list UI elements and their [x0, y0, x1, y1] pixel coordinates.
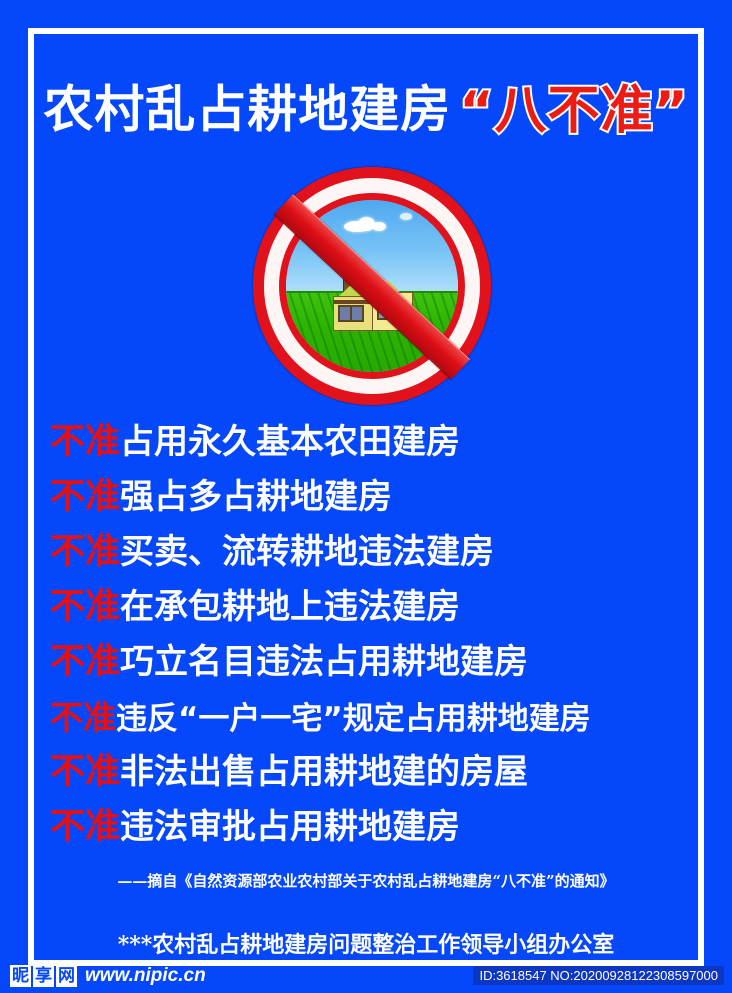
watermark-logo-char-2: 享 — [33, 965, 54, 987]
source-citation: ——摘自《自然资源部农业农村部关于农村乱占耕地建房“八不准”的通知》 — [0, 870, 732, 891]
rule-prefix: 不准 — [50, 422, 120, 462]
no-building-on-farmland-icon — [253, 167, 491, 405]
rule-item-7: 不准非法出售占用耕地建的房屋 — [50, 750, 690, 795]
rule-text: 强占多占耕地建房 — [120, 477, 392, 517]
rule-item-4: 不准在承包耕地上违法建房 — [50, 585, 690, 630]
rule-text: 非法出售占用耕地建的房屋 — [120, 752, 528, 792]
rule-text: 巧立名目违法占用耕地建房 — [120, 642, 528, 682]
watermark-logo-char-1: 昵 — [10, 965, 31, 987]
rule-item-6: 不准违反“一户一宅”规定占用耕地建房 — [50, 695, 690, 740]
poster-canvas: 农村乱占耕地建房“八不准” — [0, 0, 732, 993]
rule-prefix: 不准 — [50, 477, 120, 517]
rule-prefix: 不准 — [50, 642, 120, 682]
window-shape — [350, 305, 364, 322]
rule-text: 违反“一户一宅”规定占用耕地建房 — [116, 701, 591, 737]
watermark-logo: 昵 享 网 — [10, 965, 77, 987]
rule-prefix: 不准 — [50, 698, 116, 737]
cloud-icon — [372, 222, 386, 231]
rule-text: 买卖、流转耕地违法建房 — [120, 532, 494, 572]
rule-prefix: 不准 — [50, 532, 120, 572]
rule-item-8: 不准违法审批占用耕地建房 — [50, 805, 690, 850]
rule-item-1: 不准占用永久基本农田建房 — [50, 420, 690, 465]
rule-item-3: 不准买卖、流转耕地违法建房 — [50, 530, 690, 575]
watermark-logo-char-3: 网 — [56, 965, 77, 987]
rule-prefix: 不准 — [50, 587, 120, 627]
rule-text: 违法审批占用耕地建房 — [120, 807, 460, 847]
title-accent-text: “八不准” — [459, 81, 688, 141]
rule-item-5: 不准巧立名目违法占用耕地建房 — [50, 640, 690, 685]
rule-prefix: 不准 — [50, 807, 120, 847]
rules-list: 不准占用永久基本农田建房 不准强占多占耕地建房 不准买卖、流转耕地违法建房 不准… — [50, 420, 690, 860]
issuing-organization: ***农村乱占耕地建房问题整治工作领导小组办公室 — [0, 927, 732, 959]
rule-prefix: 不准 — [50, 752, 120, 792]
rule-item-2: 不准强占多占耕地建房 — [50, 475, 690, 520]
watermark-url: www.nipic.cn — [85, 965, 206, 987]
title-main-text: 农村乱占耕地建房 — [43, 81, 451, 139]
site-watermark: 昵 享 网 www.nipic.cn — [10, 965, 206, 987]
watermark-id-text: ID:3618547 NO:20200928122308597000 — [473, 966, 724, 985]
cloud-icon — [400, 213, 412, 220]
rule-text: 占用永久基本农田建房 — [120, 422, 460, 462]
rule-text: 在承包耕地上违法建房 — [120, 587, 460, 627]
page-title: 农村乱占耕地建房“八不准” — [0, 68, 732, 143]
